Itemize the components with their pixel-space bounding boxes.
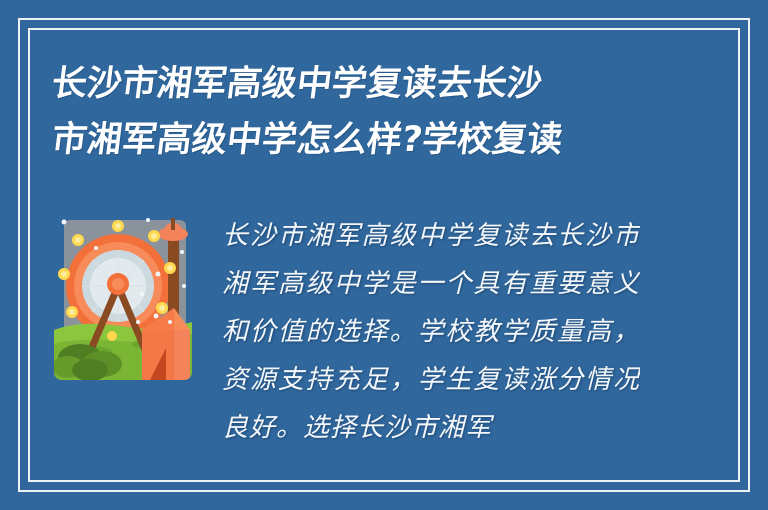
article-card: 长沙市湘军高级中学复读去长沙 市湘军高级中学怎么样?学校复读 <box>0 0 768 510</box>
article-paragraph-text: 长沙市湘军高级中学复读去长沙市湘军高级中学是一个具有重要意义和价值的选择。学校教… <box>222 212 640 452</box>
headline: 长沙市湘军高级中学复读去长沙 市湘军高级中学怎么样?学校复读 <box>52 56 672 168</box>
body-area: 长沙市湘军高级中学复读去长沙市湘军高级中学是一个具有重要意义和价值的选择。学校教… <box>50 212 728 470</box>
amusement-park-ferris-wheel-icon <box>50 212 196 384</box>
headline-line-2: 市湘军高级中学怎么样?学校复读 <box>49 112 676 168</box>
headline-line-1: 长沙市湘军高级中学复读去长沙 <box>49 56 676 112</box>
article-paragraph: 长沙市湘军高级中学复读去长沙市湘军高级中学是一个具有重要意义和价值的选择。学校教… <box>222 212 640 452</box>
